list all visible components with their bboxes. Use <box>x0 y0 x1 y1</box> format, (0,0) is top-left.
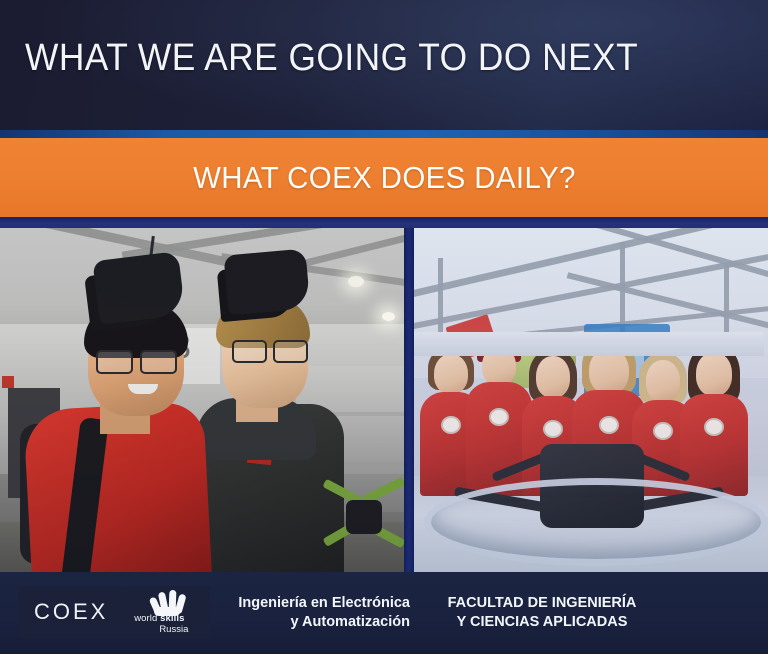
person-one-eyeglasses <box>96 350 180 370</box>
presentation-slide: WHAT WE ARE GOING TO DO NEXT WHAT COEX D… <box>0 0 768 654</box>
drone-demo-photo <box>414 228 768 572</box>
truss-post <box>438 258 443 336</box>
worldskills-label: world skills <box>122 613 196 624</box>
program-line-1: Ingeniería en Electrónica <box>238 594 410 613</box>
display-table <box>414 332 764 356</box>
exit-sign <box>2 376 14 388</box>
ceiling-light <box>348 276 364 287</box>
fpv-pilots-photo: 3 <box>0 228 404 572</box>
page-title: WHAT WE ARE GOING TO DO NEXT <box>25 36 638 80</box>
worldskills-world-text: world <box>134 613 160 624</box>
worldskills-hand-icon <box>150 589 184 615</box>
program-line-2: y Automatización <box>290 613 410 632</box>
person-two-eyeglasses <box>232 340 308 359</box>
program-name: Ingeniería en Electrónica y Automatizaci… <box>208 572 424 654</box>
coex-wordmark: COEX <box>34 601 108 623</box>
section-banner-title: WHAT COEX DOES DAILY? <box>193 160 576 196</box>
section-banner: WHAT COEX DOES DAILY? <box>0 138 768 217</box>
coex-logo: COEX world skills Russia <box>18 586 210 638</box>
worldskills-skills-text: skills <box>160 613 184 624</box>
photo-strip: 3 <box>0 228 768 572</box>
header-blue-rule <box>0 130 768 138</box>
worldskills-logo: world skills Russia <box>122 589 196 635</box>
racing-drone-icon <box>318 474 404 560</box>
truss-post <box>620 242 625 334</box>
photo-divider <box>404 228 414 572</box>
ceiling-light <box>382 312 395 321</box>
large-drone-icon <box>424 434 754 554</box>
slide-footer: COEX world skills Russia Ingeniería en E… <box>0 572 768 654</box>
truss-post <box>724 262 729 336</box>
faculty-line-2: Y CIENCIAS APLICADAS <box>457 613 628 632</box>
slide-header: WHAT WE ARE GOING TO DO NEXT <box>0 0 768 133</box>
drone-guard-ring <box>424 478 768 566</box>
faculty-name: FACULTAD DE INGENIERÍA Y CIENCIAS APLICA… <box>436 572 648 654</box>
worldskills-country-label: Russia <box>122 624 196 635</box>
faculty-line-1: FACULTAD DE INGENIERÍA <box>448 594 637 613</box>
